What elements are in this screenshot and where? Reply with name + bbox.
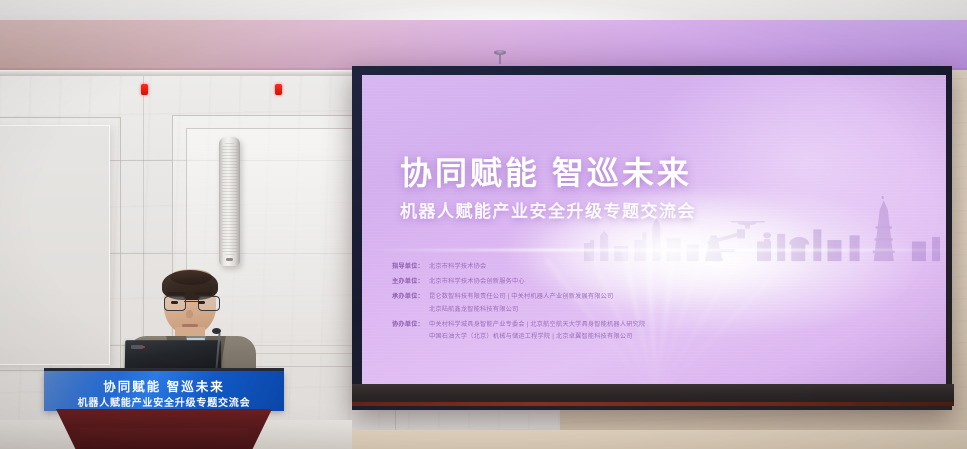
podium-banner-title: 协同赋能 智巡未来	[44, 376, 284, 395]
laptop-indicator-icon	[142, 346, 145, 349]
wall-panel-left	[0, 125, 110, 365]
speaker-led-icon	[226, 258, 233, 261]
soffit-shading	[0, 20, 967, 70]
sprinkler-icon	[494, 50, 506, 64]
credit-value: 昆仑数智科技有限责任公司 | 中关村机器人产业创新发展有限公司	[429, 291, 614, 300]
credit-row: 指导单位： 北京市科学技术协会	[392, 261, 722, 270]
credit-row: 协办单位： 中关村科学城具身智能产业专委会 | 北京航空航天大学具身智能机器人研…	[392, 319, 722, 341]
credit-label: 承办单位：	[392, 291, 424, 313]
credit-value: 北京陆航鑫龙智能科技有限公司	[429, 304, 614, 313]
credit-label: 协办单位：	[392, 319, 424, 341]
credit-value: 中国石油大学（北京）机械与储运工程学院 | 北京卓翼智能科技有限公司	[429, 331, 645, 340]
credit-row: 承办单位： 昆仑数智科技有限责任公司 | 中关村机器人产业创新发展有限公司 北京…	[392, 291, 722, 313]
credit-value: 北京市科学技术协会创新服务中心	[429, 276, 525, 285]
presentation-slide: 协同赋能 智巡未来 机器人赋能产业安全升级专题交流会 指导单位： 北京市科学技术…	[362, 75, 946, 385]
credit-label: 指导单位：	[392, 261, 424, 270]
credit-value: 北京市科学技术协会	[429, 261, 487, 270]
slide-credits: 指导单位： 北京市科学技术协会 主办单位： 北京市科学技术协会创新服务中心 承办…	[392, 261, 722, 346]
speaker-grill	[222, 143, 237, 255]
screen-bottom-accent	[352, 402, 954, 406]
microphone-icon	[212, 328, 221, 334]
credit-label: 主办单位：	[392, 276, 424, 285]
ceiling-light-glow	[300, 0, 720, 22]
presentation-photo: 协同赋能 智巡未来 机器人赋能产业安全升级专题交流会 指导单位： 北京市科学技术…	[0, 0, 967, 449]
slide-subtitle: 机器人赋能产业安全升级专题交流会	[400, 203, 696, 220]
speaker-nose	[186, 310, 193, 318]
credit-value: 中关村科学城具身智能产业专委会 | 北京航空航天大学具身智能机器人研究院	[429, 319, 645, 328]
credit-row: 主办单位： 北京市科学技术协会创新服务中心	[392, 276, 722, 285]
slide-title: 协同赋能 智巡未来	[400, 157, 692, 189]
podium-banner-subtitle: 机器人赋能产业安全升级专题交流会	[44, 394, 284, 409]
fire-alarm-indicator-icon	[275, 84, 282, 95]
fire-alarm-indicator-icon	[141, 84, 148, 95]
podium-base	[80, 428, 248, 449]
